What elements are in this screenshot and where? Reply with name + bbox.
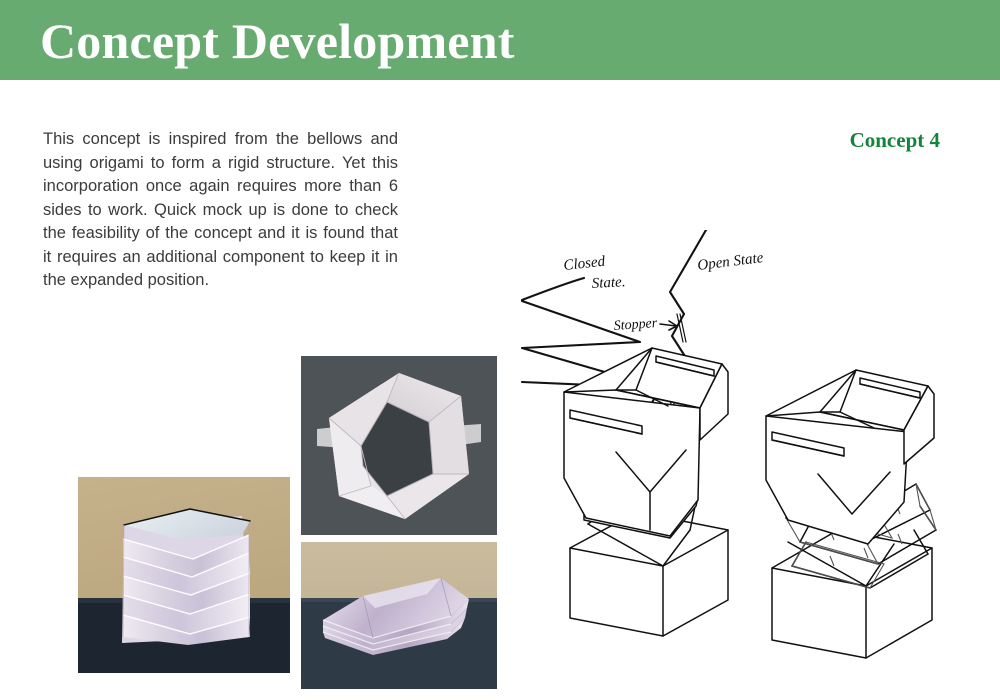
photo-bellows-collapsed-image xyxy=(301,542,497,689)
photo-bellows-expanded xyxy=(78,477,290,673)
closed-state-annotation-text: Closed xyxy=(563,254,607,274)
concept-number-label: Concept 4 xyxy=(850,128,940,153)
photo-origami-hex-top xyxy=(301,356,497,535)
photo-bellows-expanded-image xyxy=(78,477,290,673)
photo-bellows-collapsed xyxy=(301,542,497,689)
sketch-and-cad-drawings: Closed State. Open State Stopper xyxy=(500,230,1000,690)
closed-state-annotation-text-line2: State. xyxy=(591,274,626,292)
slide-canvas: Concept Development This concept is insp… xyxy=(0,0,1000,700)
stopper-annotation: Stopper xyxy=(613,316,677,334)
page-title: Concept Development xyxy=(40,13,515,69)
cad-collapsed-state xyxy=(564,348,728,636)
concept-description: This concept is inspired from the bellow… xyxy=(43,128,398,293)
open-state-annotation-text: Open State xyxy=(697,250,765,274)
stopper-annotation-text: Stopper xyxy=(613,316,658,334)
photo-origami-hex-top-image xyxy=(301,356,497,535)
cad-expanded-state xyxy=(766,370,936,658)
closed-state-annotation: Closed State. xyxy=(563,254,626,292)
open-state-annotation: Open State xyxy=(697,250,765,274)
